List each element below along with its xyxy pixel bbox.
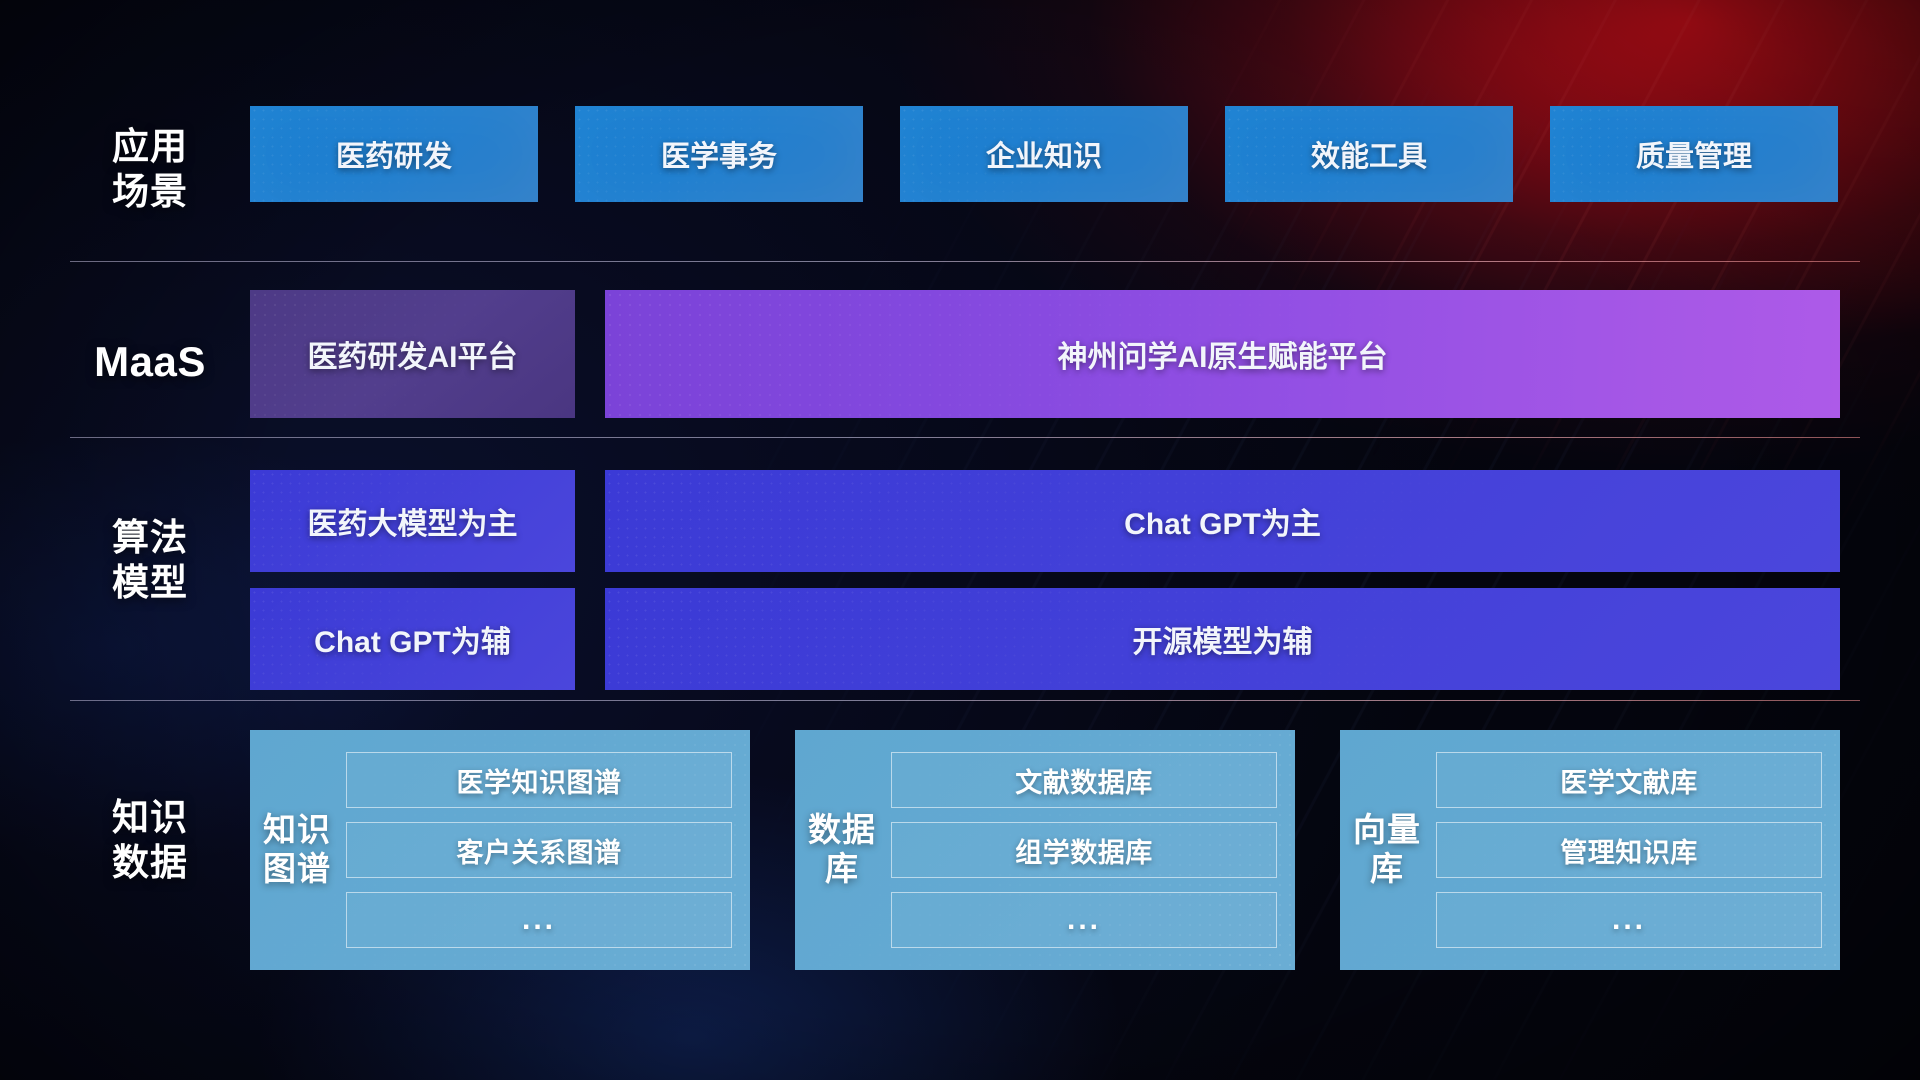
knowledge-group-knowledge-graph[interactable]: 知识图谱 医学知识图谱 客户关系图谱 ... — [250, 730, 750, 970]
knowledge-item-label-3-2: 管理知识库 — [1560, 831, 1698, 870]
knowledge-item-3-1[interactable]: 医学文献库 — [1436, 752, 1822, 808]
row-label-knowledge: 知识 数据 — [55, 795, 245, 885]
knowledge-group-title-2: 数据库 — [805, 811, 879, 889]
maas-platform-label-left: 医药研发AI平台 — [308, 332, 518, 376]
knowledge-group-items-3: 医学文献库 管理知识库 ... — [1424, 752, 1824, 948]
app-scenario-box-3[interactable]: 企业知识 — [900, 106, 1188, 202]
knowledge-group-title-3: 向量库 — [1350, 811, 1424, 889]
knowledge-group-title-1: 知识图谱 — [260, 811, 334, 889]
knowledge-item-2-3[interactable]: ... — [891, 892, 1277, 948]
app-scenario-box-4[interactable]: 效能工具 — [1225, 106, 1513, 202]
divider-algorithm-knowledge — [70, 700, 1860, 701]
knowledge-item-3-3[interactable]: ... — [1436, 892, 1822, 948]
knowledge-item-label-1-3: ... — [522, 903, 556, 937]
row-label-knowledge-line1: 知识 — [55, 795, 245, 840]
algorithm-primary-box-right[interactable]: Chat GPT为主 — [605, 470, 1840, 572]
knowledge-item-2-1[interactable]: 文献数据库 — [891, 752, 1277, 808]
maas-platform-label-right: 神州问学AI原生赋能平台 — [1058, 332, 1388, 376]
row-label-application-line1: 应用 — [55, 124, 245, 169]
row-label-algorithm-line1: 算法 — [55, 515, 245, 560]
knowledge-item-label-2-1: 文献数据库 — [1015, 761, 1153, 800]
knowledge-item-2-2[interactable]: 组学数据库 — [891, 822, 1277, 878]
algorithm-primary-box-left[interactable]: 医药大模型为主 — [250, 470, 575, 572]
algorithm-secondary-box-right[interactable]: 开源模型为辅 — [605, 588, 1840, 690]
knowledge-item-label-3-1: 医学文献库 — [1560, 761, 1698, 800]
app-scenario-box-5[interactable]: 质量管理 — [1550, 106, 1838, 202]
knowledge-item-label-1-2: 客户关系图谱 — [457, 831, 622, 870]
row-label-application-line2: 场景 — [55, 169, 245, 214]
divider-maas-algorithm — [70, 437, 1860, 438]
knowledge-item-1-3[interactable]: ... — [346, 892, 732, 948]
row-label-knowledge-line2: 数据 — [55, 840, 245, 885]
app-scenario-box-2[interactable]: 医学事务 — [575, 106, 863, 202]
app-scenario-box-1[interactable]: 医药研发 — [250, 106, 538, 202]
algorithm-primary-label-left: 医药大模型为主 — [308, 499, 518, 543]
algorithm-secondary-label-right: 开源模型为辅 — [1133, 617, 1313, 661]
knowledge-group-database[interactable]: 数据库 文献数据库 组学数据库 ... — [795, 730, 1295, 970]
app-scenario-label-4: 效能工具 — [1311, 133, 1427, 175]
knowledge-item-label-2-3: ... — [1067, 903, 1101, 937]
knowledge-item-1-2[interactable]: 客户关系图谱 — [346, 822, 732, 878]
algorithm-secondary-box-left[interactable]: Chat GPT为辅 — [250, 588, 575, 690]
app-scenario-label-1: 医药研发 — [336, 133, 452, 175]
row-label-algorithm: 算法 模型 — [55, 515, 245, 605]
knowledge-group-items-2: 文献数据库 组学数据库 ... — [879, 752, 1279, 948]
row-label-maas-text: MaaS — [55, 336, 245, 387]
knowledge-item-3-2[interactable]: 管理知识库 — [1436, 822, 1822, 878]
knowledge-group-vector-store[interactable]: 向量库 医学文献库 管理知识库 ... — [1340, 730, 1840, 970]
algorithm-primary-label-right: Chat GPT为主 — [1124, 499, 1321, 543]
maas-platform-box-right[interactable]: 神州问学AI原生赋能平台 — [605, 290, 1840, 418]
row-label-algorithm-line2: 模型 — [55, 560, 245, 605]
diagram-stage: 应用 场景 医药研发 医学事务 企业知识 效能工具 质量管理 MaaS 医药研发… — [0, 0, 1920, 1080]
knowledge-item-label-3-3: ... — [1612, 903, 1646, 937]
knowledge-item-label-1-1: 医学知识图谱 — [457, 761, 622, 800]
row-label-application: 应用 场景 — [55, 124, 245, 214]
knowledge-group-items-1: 医学知识图谱 客户关系图谱 ... — [334, 752, 734, 948]
app-scenario-label-2: 医学事务 — [661, 133, 777, 175]
divider-application-maas — [70, 261, 1860, 262]
knowledge-item-1-1[interactable]: 医学知识图谱 — [346, 752, 732, 808]
knowledge-item-label-2-2: 组学数据库 — [1015, 831, 1153, 870]
app-scenario-label-5: 质量管理 — [1636, 133, 1752, 175]
row-label-maas: MaaS — [55, 336, 245, 387]
algorithm-secondary-label-left: Chat GPT为辅 — [314, 617, 511, 661]
maas-platform-box-left[interactable]: 医药研发AI平台 — [250, 290, 575, 418]
app-scenario-label-3: 企业知识 — [986, 133, 1102, 175]
